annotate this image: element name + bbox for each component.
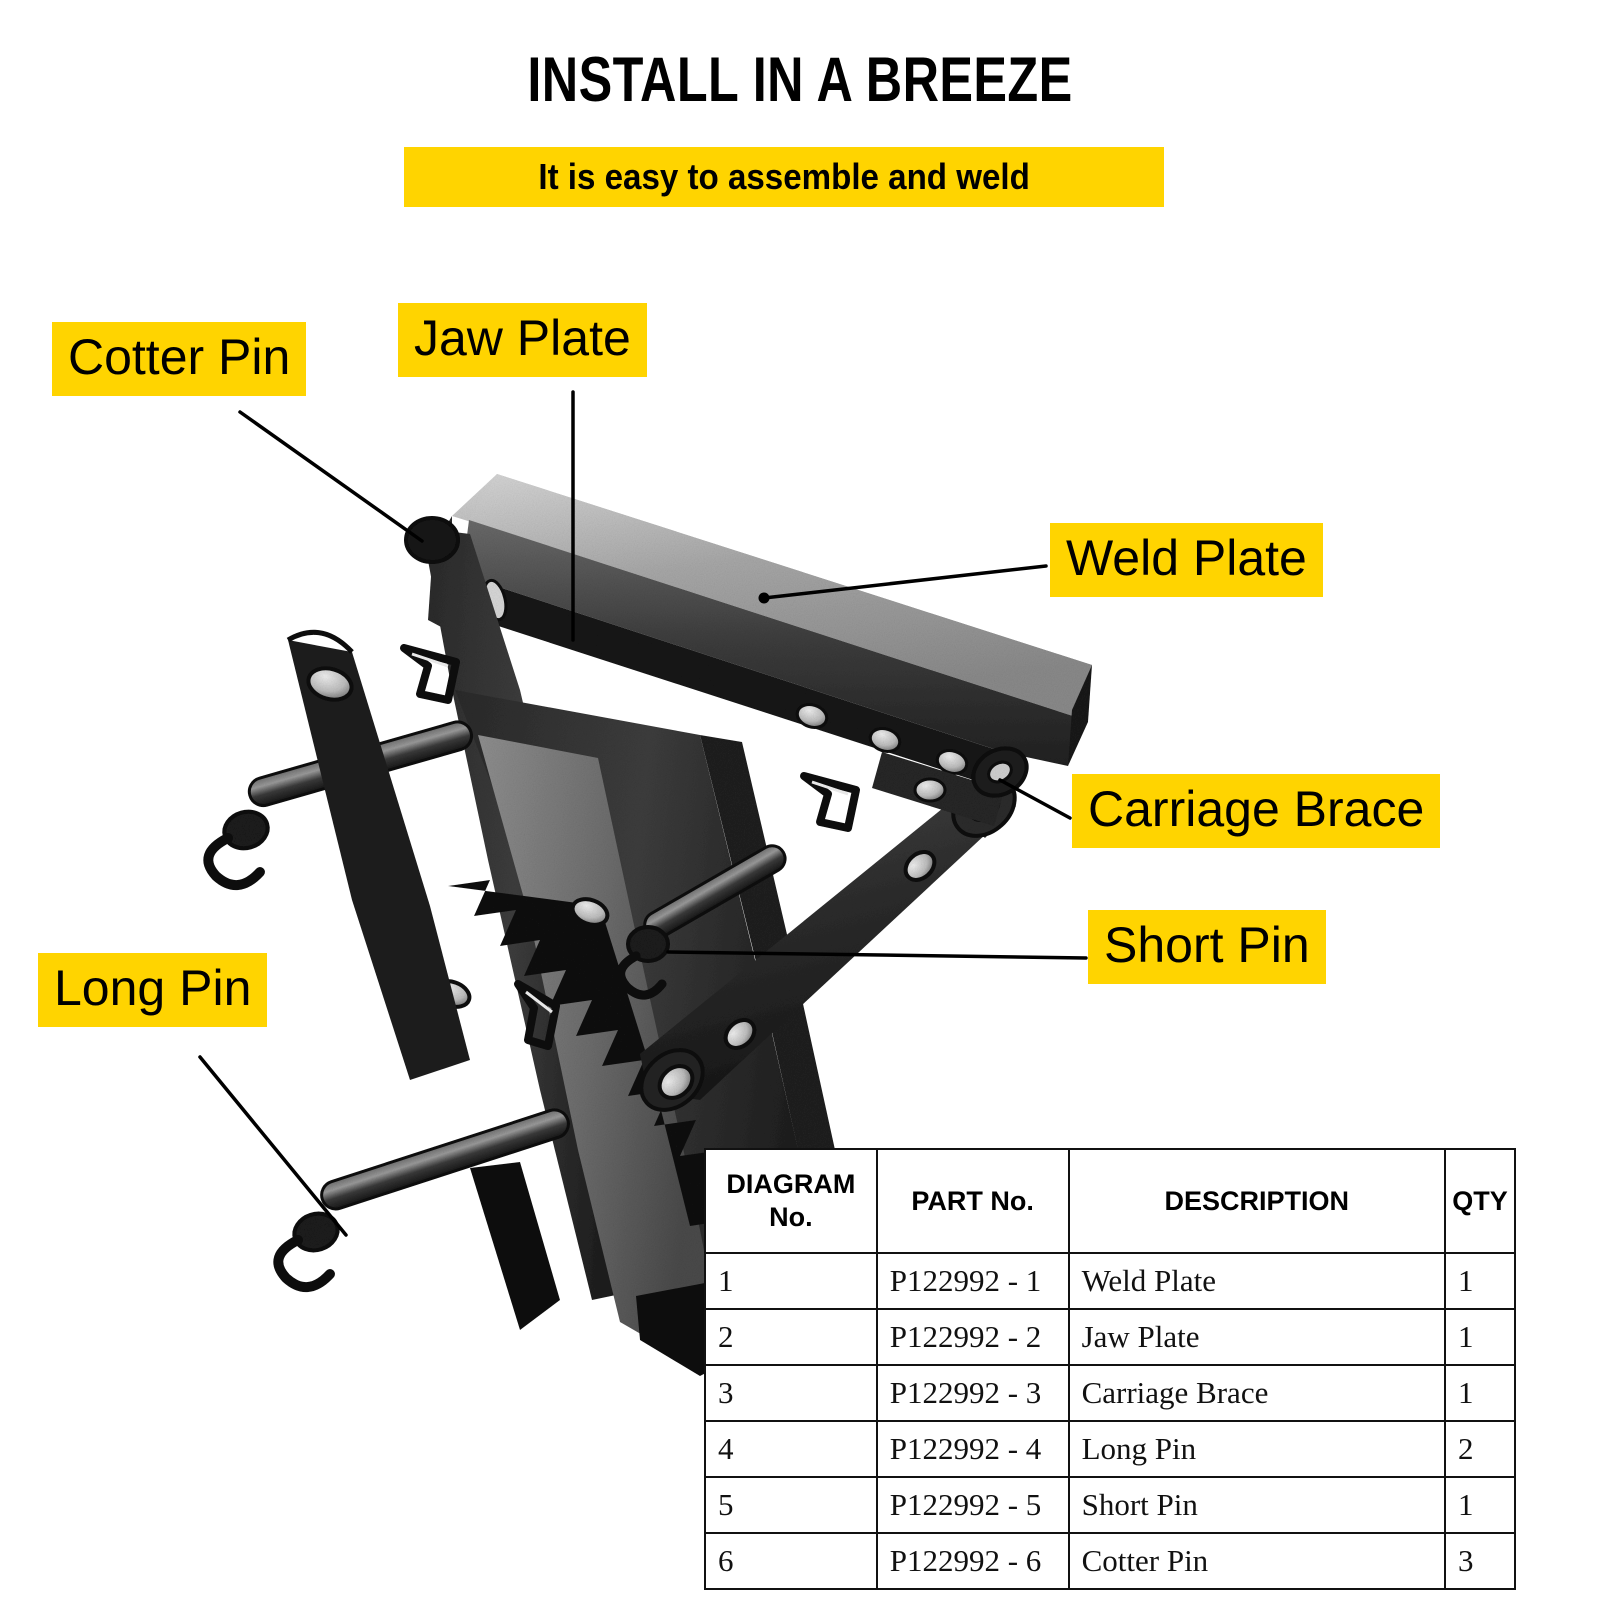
callout-cotter-pin: Cotter Pin: [52, 322, 306, 396]
cell-description: Short Pin: [1069, 1477, 1445, 1533]
cell-part-no: P122992 - 1: [877, 1253, 1069, 1309]
callout-weld-plate: Weld Plate: [1050, 523, 1323, 597]
callout-carriage-brace-label: Carriage Brace: [1088, 784, 1424, 834]
pivot-pin-left: [406, 518, 458, 562]
cell-part-no: P122992 - 2: [877, 1309, 1069, 1365]
table-row: 2 P122992 - 2 Jaw Plate 1: [705, 1309, 1515, 1365]
header-qty: QTY: [1445, 1149, 1515, 1253]
cell-qty: 1: [1445, 1365, 1515, 1421]
cell-part-no: P122992 - 6: [877, 1533, 1069, 1589]
cell-part-no: P122992 - 4: [877, 1421, 1069, 1477]
cell-qty: 1: [1445, 1309, 1515, 1365]
parts-list-table: DIAGRAM No. PART No. DESCRIPTION QTY 1 P…: [704, 1148, 1516, 1590]
cell-description: Long Pin: [1069, 1421, 1445, 1477]
cell-description: Carriage Brace: [1069, 1365, 1445, 1421]
callout-long-pin-label: Long Pin: [54, 963, 251, 1013]
cell-description: Cotter Pin: [1069, 1533, 1445, 1589]
cotter-pin-clip-upper: [404, 648, 456, 700]
cell-qty: 2: [1445, 1421, 1515, 1477]
callout-jaw-plate-label: Jaw Plate: [414, 313, 631, 363]
header-diagram-no: DIAGRAM No.: [705, 1149, 877, 1253]
table-row: 3 P122992 - 3 Carriage Brace 1: [705, 1365, 1515, 1421]
cell-diagram-no: 5: [705, 1477, 877, 1533]
cell-diagram-no: 1: [705, 1253, 877, 1309]
callout-short-pin: Short Pin: [1088, 910, 1326, 984]
callout-cotter-pin-label: Cotter Pin: [68, 332, 290, 382]
header-diagram-line2: No.: [769, 1202, 813, 1232]
cell-part-no: P122992 - 3: [877, 1365, 1069, 1421]
cell-qty: 1: [1445, 1253, 1515, 1309]
table-row: 5 P122992 - 5 Short Pin 1: [705, 1477, 1515, 1533]
parts-table-header-row: DIAGRAM No. PART No. DESCRIPTION QTY: [705, 1149, 1515, 1253]
table-row: 4 P122992 - 4 Long Pin 2: [705, 1421, 1515, 1477]
cotter-pin-clip-mid: [804, 776, 856, 828]
cell-qty: 1: [1445, 1477, 1515, 1533]
cell-diagram-no: 4: [705, 1421, 877, 1477]
cell-qty: 3: [1445, 1533, 1515, 1589]
callout-weld-plate-label: Weld Plate: [1066, 533, 1307, 583]
cell-description: Weld Plate: [1069, 1253, 1445, 1309]
cell-part-no: P122992 - 5: [877, 1477, 1069, 1533]
header-part-no: PART No.: [877, 1149, 1069, 1253]
callout-short-pin-label: Short Pin: [1104, 920, 1310, 970]
cell-diagram-no: 3: [705, 1365, 877, 1421]
page-root: INSTALL IN A BREEZE It is easy to assemb…: [0, 0, 1600, 1600]
callout-long-pin: Long Pin: [38, 953, 267, 1027]
cell-diagram-no: 6: [705, 1533, 877, 1589]
callout-jaw-plate: Jaw Plate: [398, 303, 647, 377]
cell-description: Jaw Plate: [1069, 1309, 1445, 1365]
callout-carriage-brace: Carriage Brace: [1072, 774, 1440, 848]
header-diagram-line1: DIAGRAM: [726, 1169, 855, 1199]
header-description: DESCRIPTION: [1069, 1149, 1445, 1253]
table-row: 1 P122992 - 1 Weld Plate 1: [705, 1253, 1515, 1309]
cell-diagram-no: 2: [705, 1309, 877, 1365]
table-row: 6 P122992 - 6 Cotter Pin 3: [705, 1533, 1515, 1589]
